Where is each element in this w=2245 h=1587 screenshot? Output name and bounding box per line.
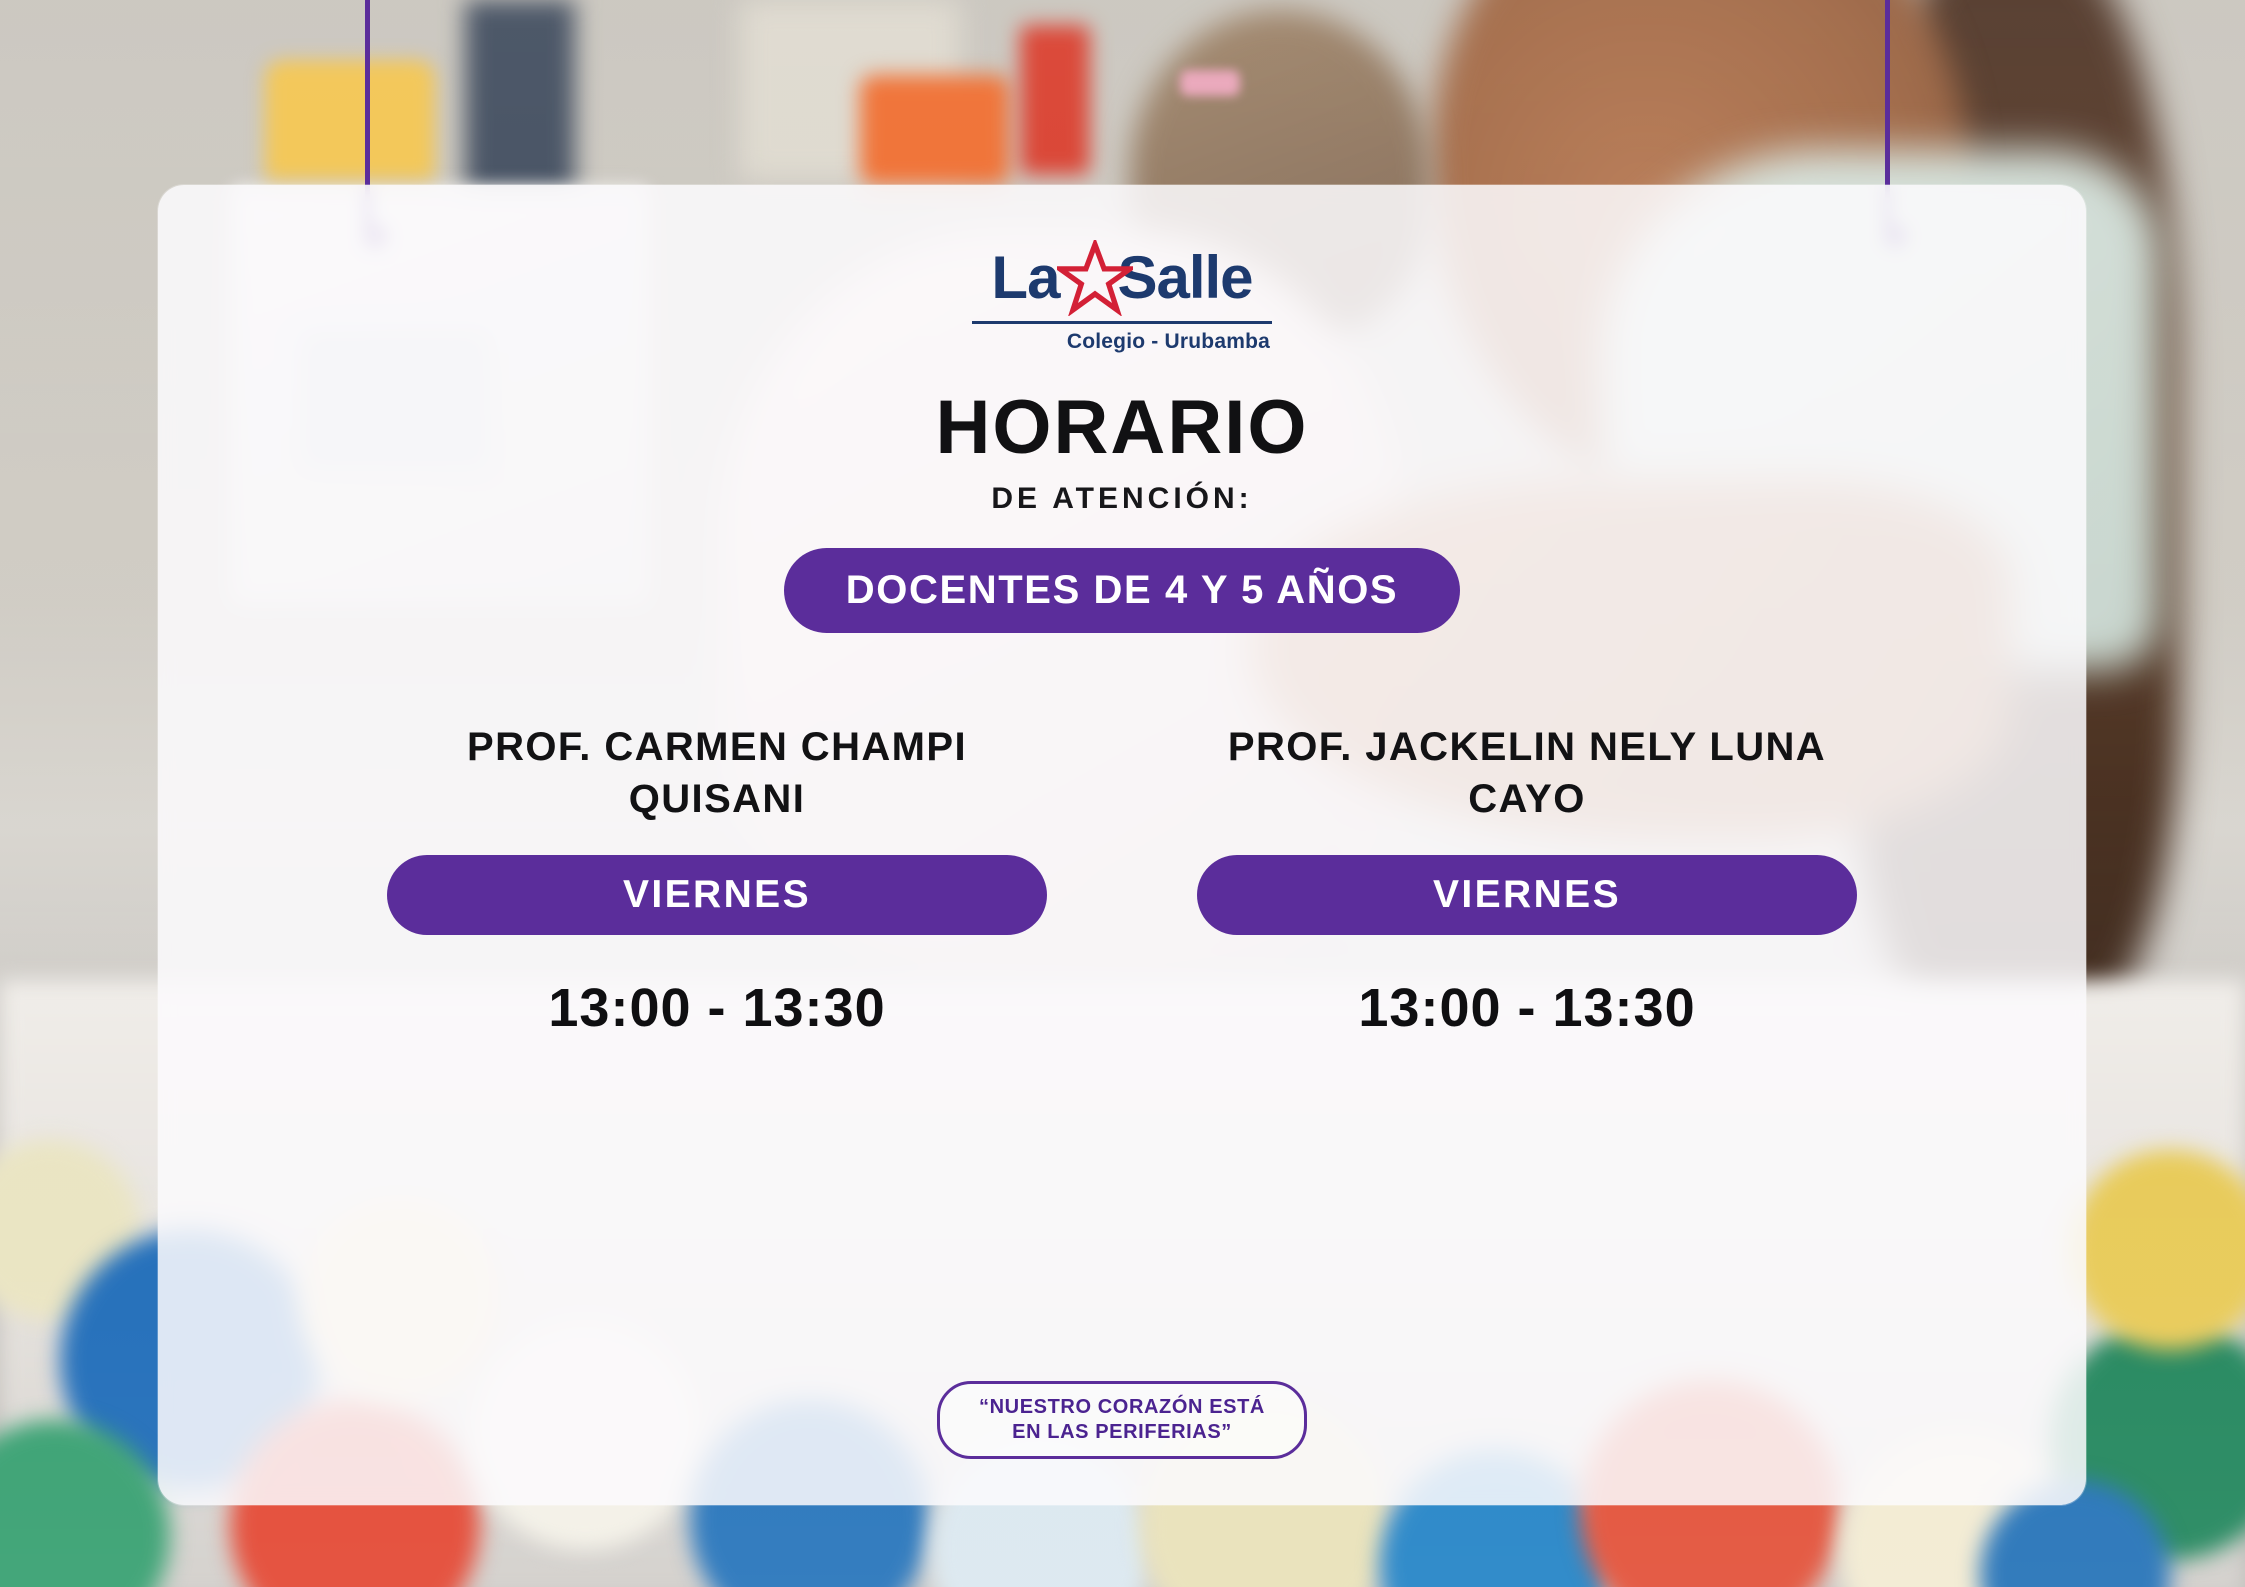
logo-wordmark: La Salle bbox=[972, 237, 1272, 319]
teacher-column: PROF. CARMEN CHAMPI QUISANI VIERNES 13:0… bbox=[387, 721, 1047, 1039]
page-subtitle: DE ATENCIÓN: bbox=[991, 482, 1252, 516]
logo-underline bbox=[972, 321, 1272, 324]
motto-badge: “NUESTRO CORAZÓN ESTÁ EN LAS PERIFERIAS” bbox=[937, 1381, 1307, 1459]
time-range: 13:00 - 13:30 bbox=[548, 977, 885, 1039]
star-icon bbox=[1057, 240, 1133, 316]
teacher-columns: PROF. CARMEN CHAMPI QUISANI VIERNES 13:0… bbox=[158, 721, 2086, 1039]
teacher-name: PROF. JACKELIN NELY LUNA CAYO bbox=[1197, 721, 1857, 829]
poster-canvas: La Salle Colegio - Urubamba HORARIO DE A… bbox=[0, 0, 2245, 1587]
la-salle-logo: La Salle Colegio - Urubamba bbox=[972, 237, 1272, 354]
photo-red-chair bbox=[1020, 25, 1090, 175]
schedule-card: La Salle Colegio - Urubamba HORARIO DE A… bbox=[158, 185, 2086, 1505]
teacher-column: PROF. JACKELIN NELY LUNA CAYO VIERNES 13… bbox=[1197, 721, 1857, 1039]
photo-orange-chair bbox=[860, 75, 1010, 185]
page-title: HORARIO bbox=[936, 390, 1309, 466]
photo-child-hairclip bbox=[1180, 70, 1240, 96]
time-range: 13:00 - 13:30 bbox=[1358, 977, 1695, 1039]
audience-badge: DOCENTES DE 4 Y 5 AÑOS bbox=[784, 548, 1460, 633]
day-badge: VIERNES bbox=[387, 855, 1047, 935]
photo-yellow-chair bbox=[265, 60, 435, 180]
logo-subtitle: Colegio - Urubamba bbox=[972, 330, 1272, 354]
logo-word-la: La bbox=[991, 248, 1059, 308]
logo-word-salle: Salle bbox=[1117, 248, 1252, 308]
photo-dark-panel bbox=[465, 0, 575, 200]
teacher-name: PROF. CARMEN CHAMPI QUISANI bbox=[387, 721, 1047, 829]
day-badge: VIERNES bbox=[1197, 855, 1857, 935]
